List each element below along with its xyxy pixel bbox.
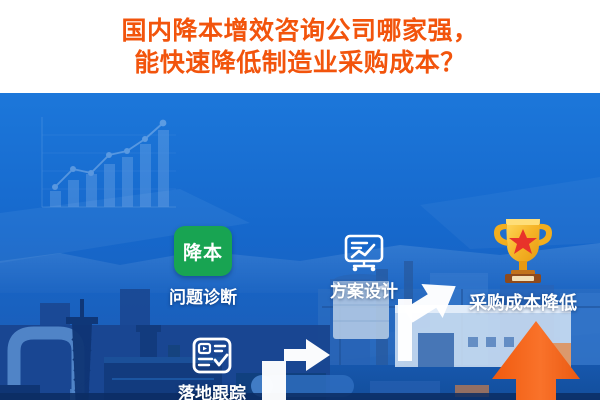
node-problem-diagnosis[interactable]: 降本 问题诊断 bbox=[169, 226, 237, 308]
node-label-diagnosis: 问题诊断 bbox=[169, 283, 237, 308]
node-implementation-tracking[interactable]: 落地跟踪 bbox=[178, 336, 246, 400]
header-banner: 国内降本增效咨询公司哪家强， 能快速降低制造业采购成本？ bbox=[0, 0, 600, 93]
node-label-tracking: 落地跟踪 bbox=[178, 379, 246, 400]
green-badge-icon: 降本 bbox=[174, 226, 232, 276]
infographic-root: 国内降本增效咨询公司哪家强， 能快速降低制造业采购成本？ bbox=[0, 0, 600, 400]
checklist-document-icon bbox=[189, 336, 235, 376]
vertical-riser-right bbox=[398, 299, 412, 361]
node-label-result: 采购成本降低 bbox=[469, 289, 577, 315]
page-title-line-1: 国内降本增效咨询公司哪家强， bbox=[121, 15, 478, 47]
page-title-line-2: 能快速降低制造业采购成本？ bbox=[134, 47, 466, 79]
trophy-icon bbox=[486, 211, 560, 287]
badge-label: 降本 bbox=[183, 238, 223, 265]
ground-band bbox=[0, 393, 600, 400]
node-cost-reduction-result[interactable]: 采购成本降低 bbox=[450, 211, 596, 315]
node-label-design: 方案设计 bbox=[330, 277, 398, 302]
hero-illustration: 降本 问题诊断 方案设计 bbox=[0, 93, 600, 400]
presentation-chart-icon bbox=[341, 233, 387, 273]
node-scheme-design[interactable]: 方案设计 bbox=[330, 233, 398, 302]
